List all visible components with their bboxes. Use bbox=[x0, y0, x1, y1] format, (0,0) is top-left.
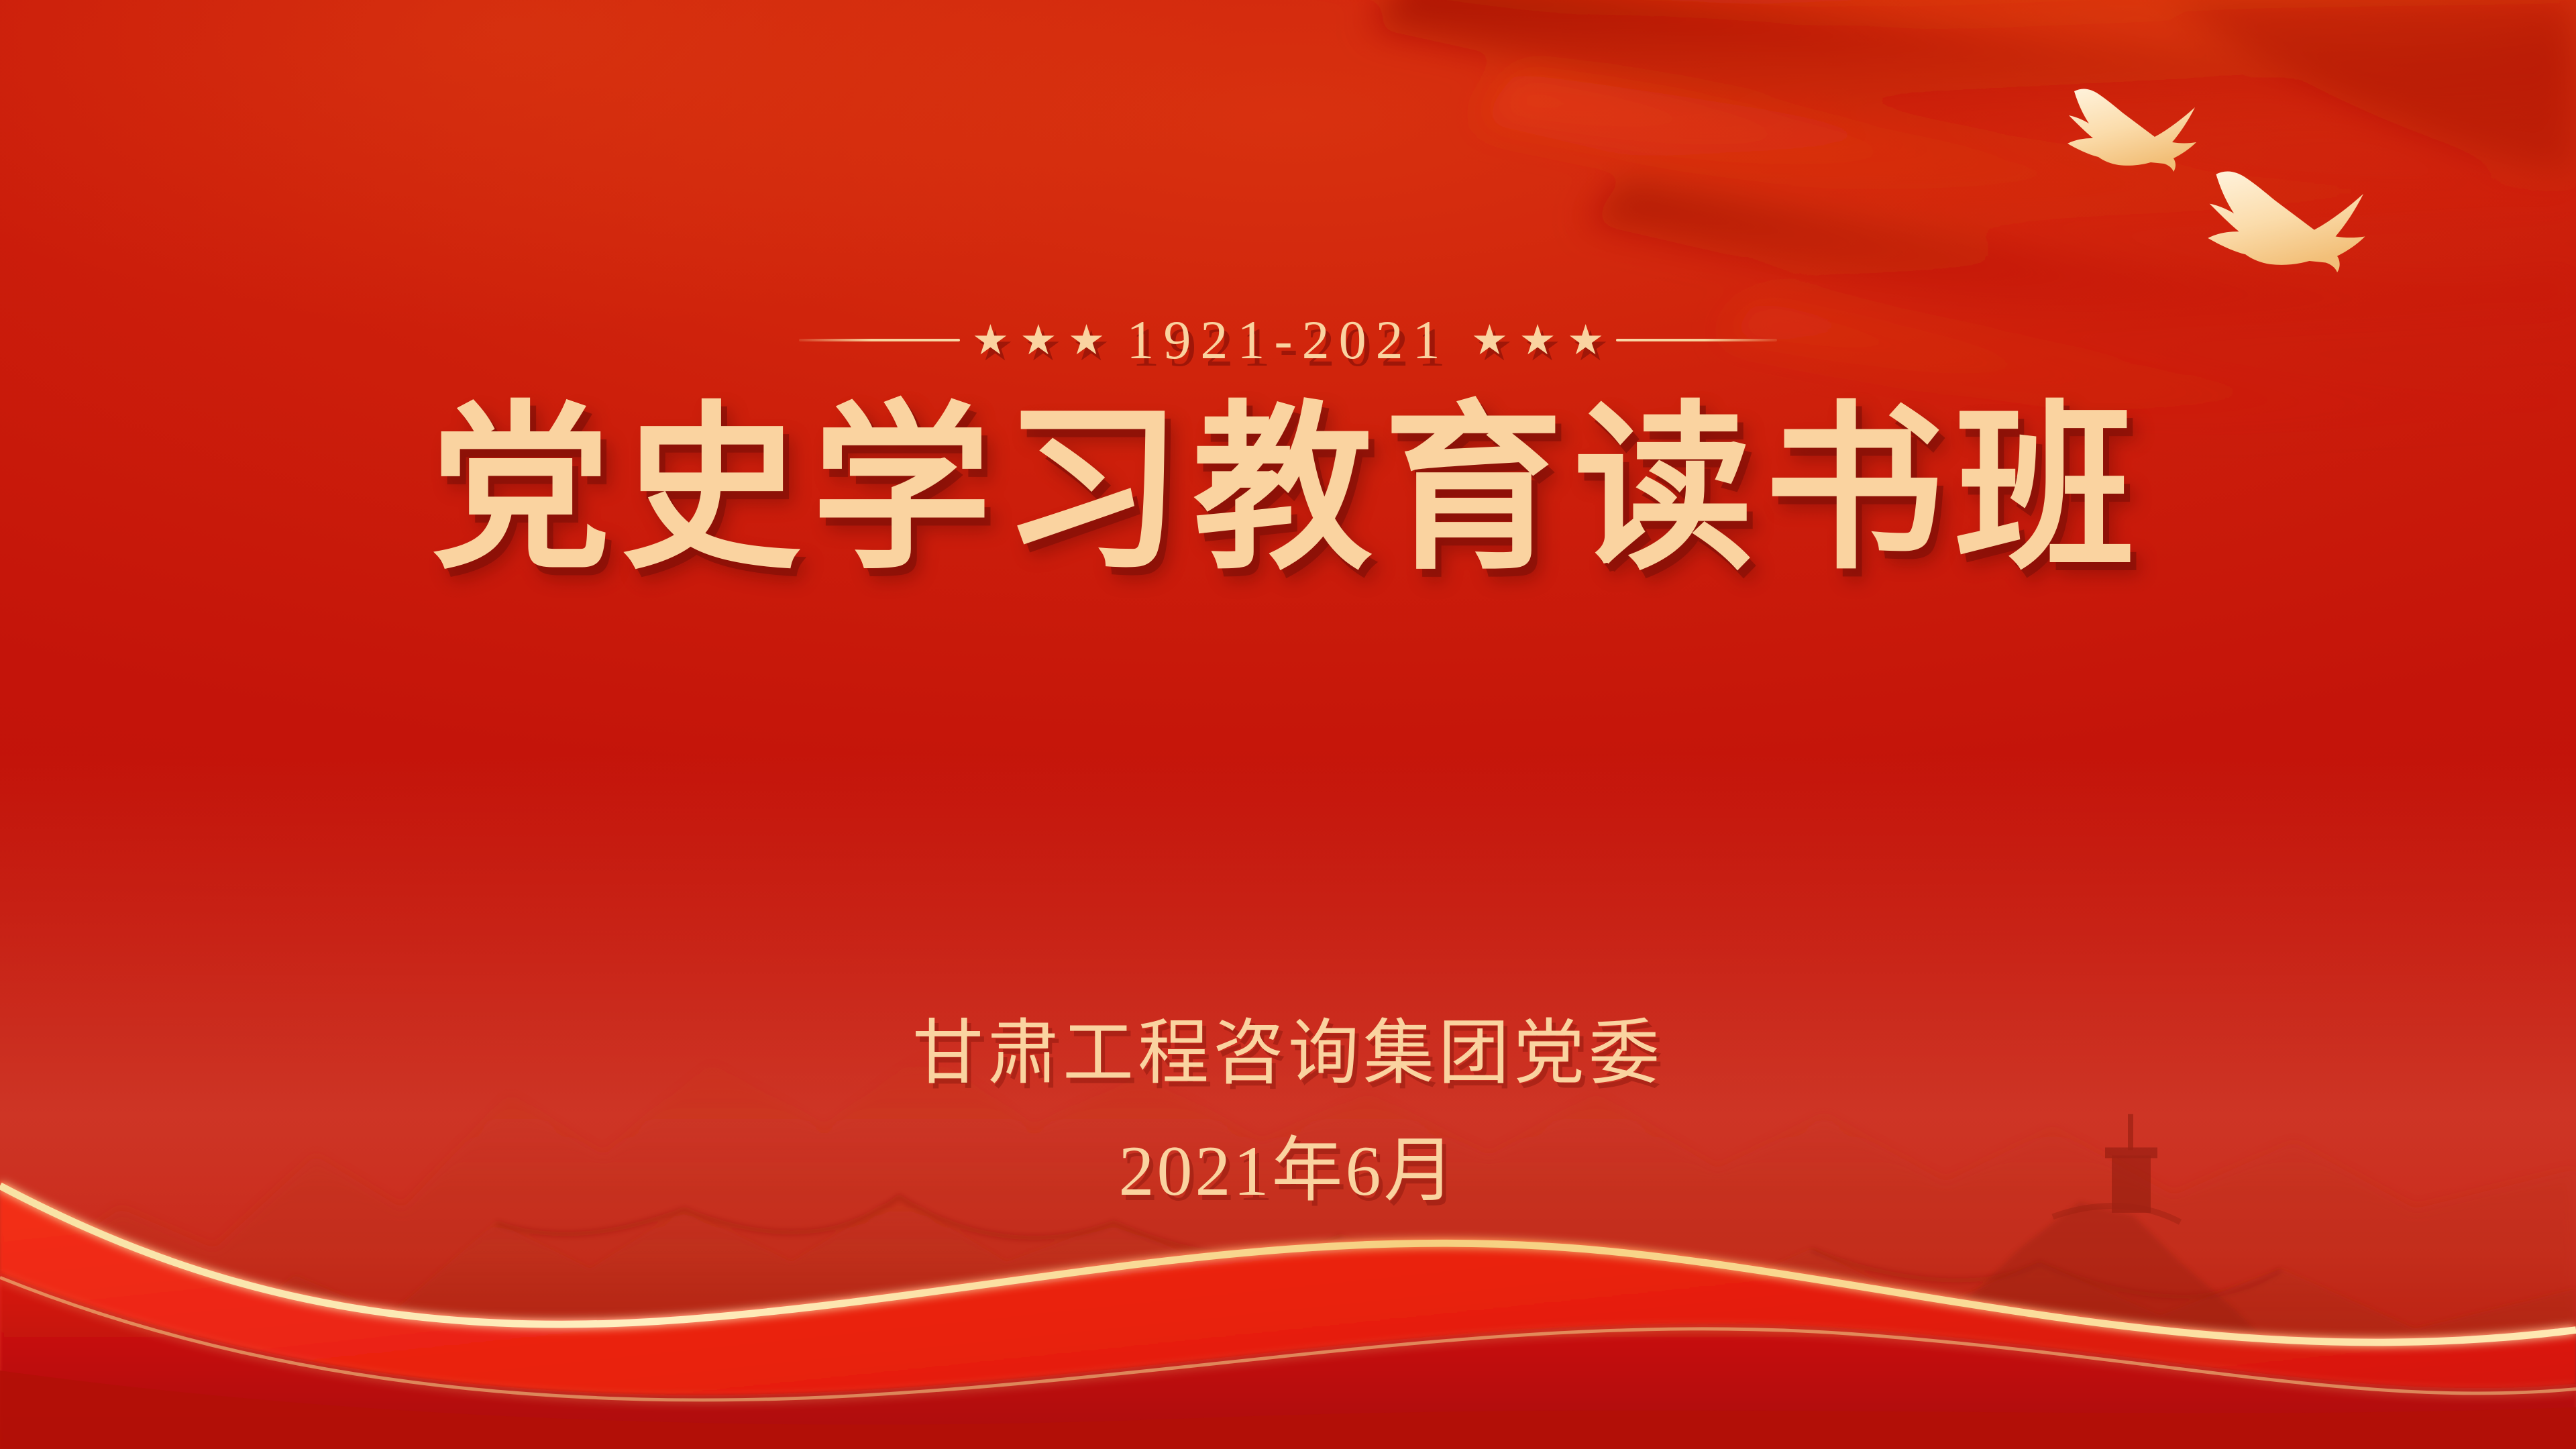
divider-line-right bbox=[1616, 339, 1777, 341]
presentation-date: 2021年6月 bbox=[0, 1127, 2576, 1216]
star-icon: ★ bbox=[972, 319, 1010, 361]
slide-content: ★ ★ ★ 1921-2021 ★ ★ ★ 党史学习教育读书班 bbox=[0, 0, 2576, 1449]
star-icon: ★ bbox=[1020, 319, 1057, 361]
stars-left-group: ★ ★ ★ bbox=[960, 319, 1118, 361]
organization-name: 甘肃工程咨询集团党委 bbox=[0, 1010, 2576, 1099]
page-title: 党史学习教育读书班 bbox=[431, 396, 2145, 586]
star-icon: ★ bbox=[1567, 319, 1605, 361]
divider-line-left bbox=[799, 339, 960, 341]
stars-right-group: ★ ★ ★ bbox=[1459, 319, 1617, 361]
slide-canvas: ★ ★ ★ 1921-2021 ★ ★ ★ 党史学习教育读书班 甘肃工程咨询集团… bbox=[0, 0, 2576, 1449]
anniversary-years: 1921-2021 bbox=[1117, 309, 1458, 372]
star-icon: ★ bbox=[1519, 319, 1556, 361]
star-icon: ★ bbox=[1068, 319, 1106, 361]
presenter-block: 甘肃工程咨询集团党委 2021年6月 bbox=[0, 1010, 2576, 1216]
star-icon: ★ bbox=[1471, 319, 1509, 361]
anniversary-eyebrow: ★ ★ ★ 1921-2021 ★ ★ ★ bbox=[799, 303, 1778, 377]
